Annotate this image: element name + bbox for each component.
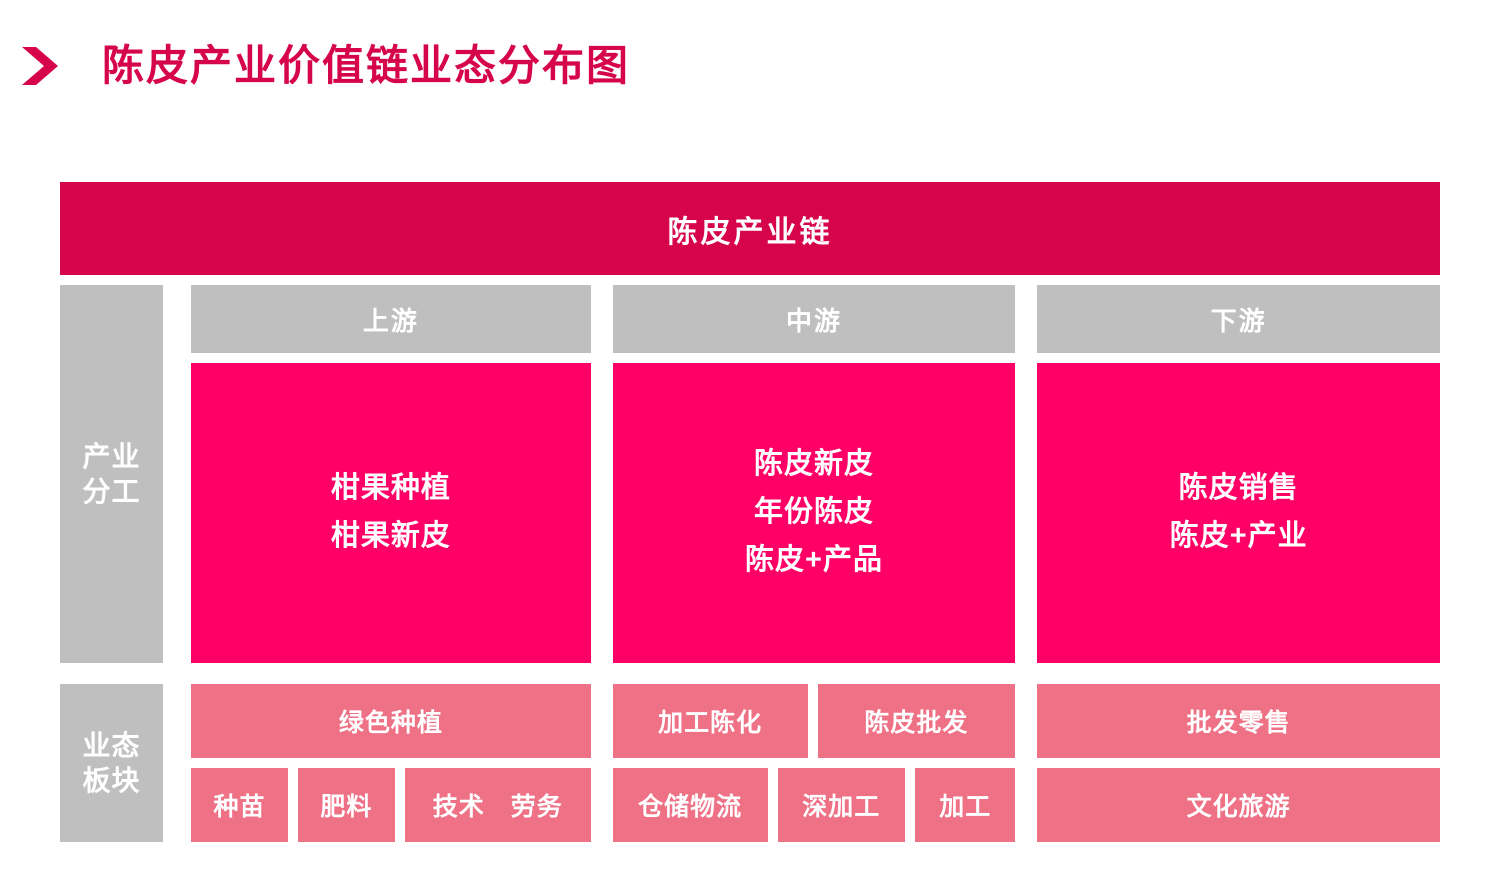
sector-box[interactable]: 加工 (915, 768, 1015, 842)
row-label-industry-division: 产业 分工 (60, 285, 163, 663)
row-label-line1: 业态 (82, 728, 140, 763)
division-box-midstream[interactable]: 陈皮新皮年份陈皮陈皮+产品 (613, 363, 1016, 663)
stage-header-upstream[interactable]: 上游 (191, 285, 591, 353)
sector-area-midstream: 加工陈化陈皮批发仓储物流深加工加工 (613, 684, 1016, 842)
sector-box[interactable]: 肥料 (298, 768, 395, 842)
sector-row: 加工陈化陈皮批发 (613, 684, 1016, 758)
sector-box[interactable]: 陈皮批发 (818, 684, 1016, 758)
stage-column-upstream: 上游柑果种植柑果新皮绿色种植种苗肥料技术 劳务 (191, 285, 591, 842)
row-label-sector-block: 业态 板块 (60, 684, 163, 842)
chain-header-label: 陈皮产业链 (668, 207, 833, 251)
value-chain-diagram: 陈皮产业链 产业 分工 业态 板块 上游柑果种植柑果新皮绿色种植种苗肥料技术 劳… (60, 182, 1440, 842)
sector-box[interactable]: 种苗 (191, 768, 288, 842)
sector-box[interactable]: 仓储物流 (613, 768, 768, 842)
division-line: 陈皮+产业 (1170, 521, 1308, 553)
sector-box[interactable]: 文化旅游 (1037, 768, 1440, 842)
sector-box[interactable]: 加工陈化 (613, 684, 808, 758)
sector-box[interactable]: 技术 劳务 (405, 768, 591, 842)
sector-area-upstream: 绿色种植种苗肥料技术 劳务 (191, 684, 591, 842)
sector-row: 仓储物流深加工加工 (613, 768, 1016, 842)
division-line: 陈皮新皮 (754, 449, 874, 481)
sector-row: 绿色种植 (191, 684, 591, 758)
stage-column-midstream: 中游陈皮新皮年份陈皮陈皮+产品加工陈化陈皮批发仓储物流深加工加工 (613, 285, 1016, 842)
row-label-line1: 产业 (82, 439, 140, 474)
stage-header-downstream[interactable]: 下游 (1037, 285, 1440, 353)
sector-box[interactable]: 批发零售 (1037, 684, 1440, 758)
stage-header-midstream[interactable]: 中游 (613, 285, 1016, 353)
division-line: 陈皮+产品 (745, 545, 883, 577)
row-label-column: 产业 分工 业态 板块 (60, 285, 163, 842)
row-label-line2: 板块 (82, 763, 140, 798)
division-box-upstream[interactable]: 柑果种植柑果新皮 (191, 363, 591, 663)
division-line: 柑果种植 (331, 473, 451, 505)
division-box-downstream[interactable]: 陈皮销售陈皮+产业 (1037, 363, 1440, 663)
chain-body: 产业 分工 业态 板块 上游柑果种植柑果新皮绿色种植种苗肥料技术 劳务中游陈皮新… (60, 285, 1440, 842)
sector-row: 文化旅游 (1037, 768, 1440, 842)
sector-box[interactable]: 深加工 (778, 768, 906, 842)
division-line: 陈皮销售 (1179, 473, 1299, 505)
page-title-row: 陈皮产业价值链业态分布图 (0, 34, 630, 98)
sector-row: 批发零售 (1037, 684, 1440, 758)
sector-box[interactable]: 绿色种植 (191, 684, 591, 758)
page-title: 陈皮产业价值链业态分布图 (102, 45, 630, 87)
stage-columns: 上游柑果种植柑果新皮绿色种植种苗肥料技术 劳务中游陈皮新皮年份陈皮陈皮+产品加工… (191, 285, 1440, 842)
division-line: 年份陈皮 (754, 497, 874, 529)
chain-header-bar: 陈皮产业链 (60, 182, 1440, 275)
chevron-right-icon (18, 43, 64, 89)
division-line: 柑果新皮 (331, 521, 451, 553)
row-label-line2: 分工 (82, 474, 140, 509)
stage-column-downstream: 下游陈皮销售陈皮+产业批发零售文化旅游 (1037, 285, 1440, 842)
sector-area-downstream: 批发零售文化旅游 (1037, 684, 1440, 842)
sector-row: 种苗肥料技术 劳务 (191, 768, 591, 842)
